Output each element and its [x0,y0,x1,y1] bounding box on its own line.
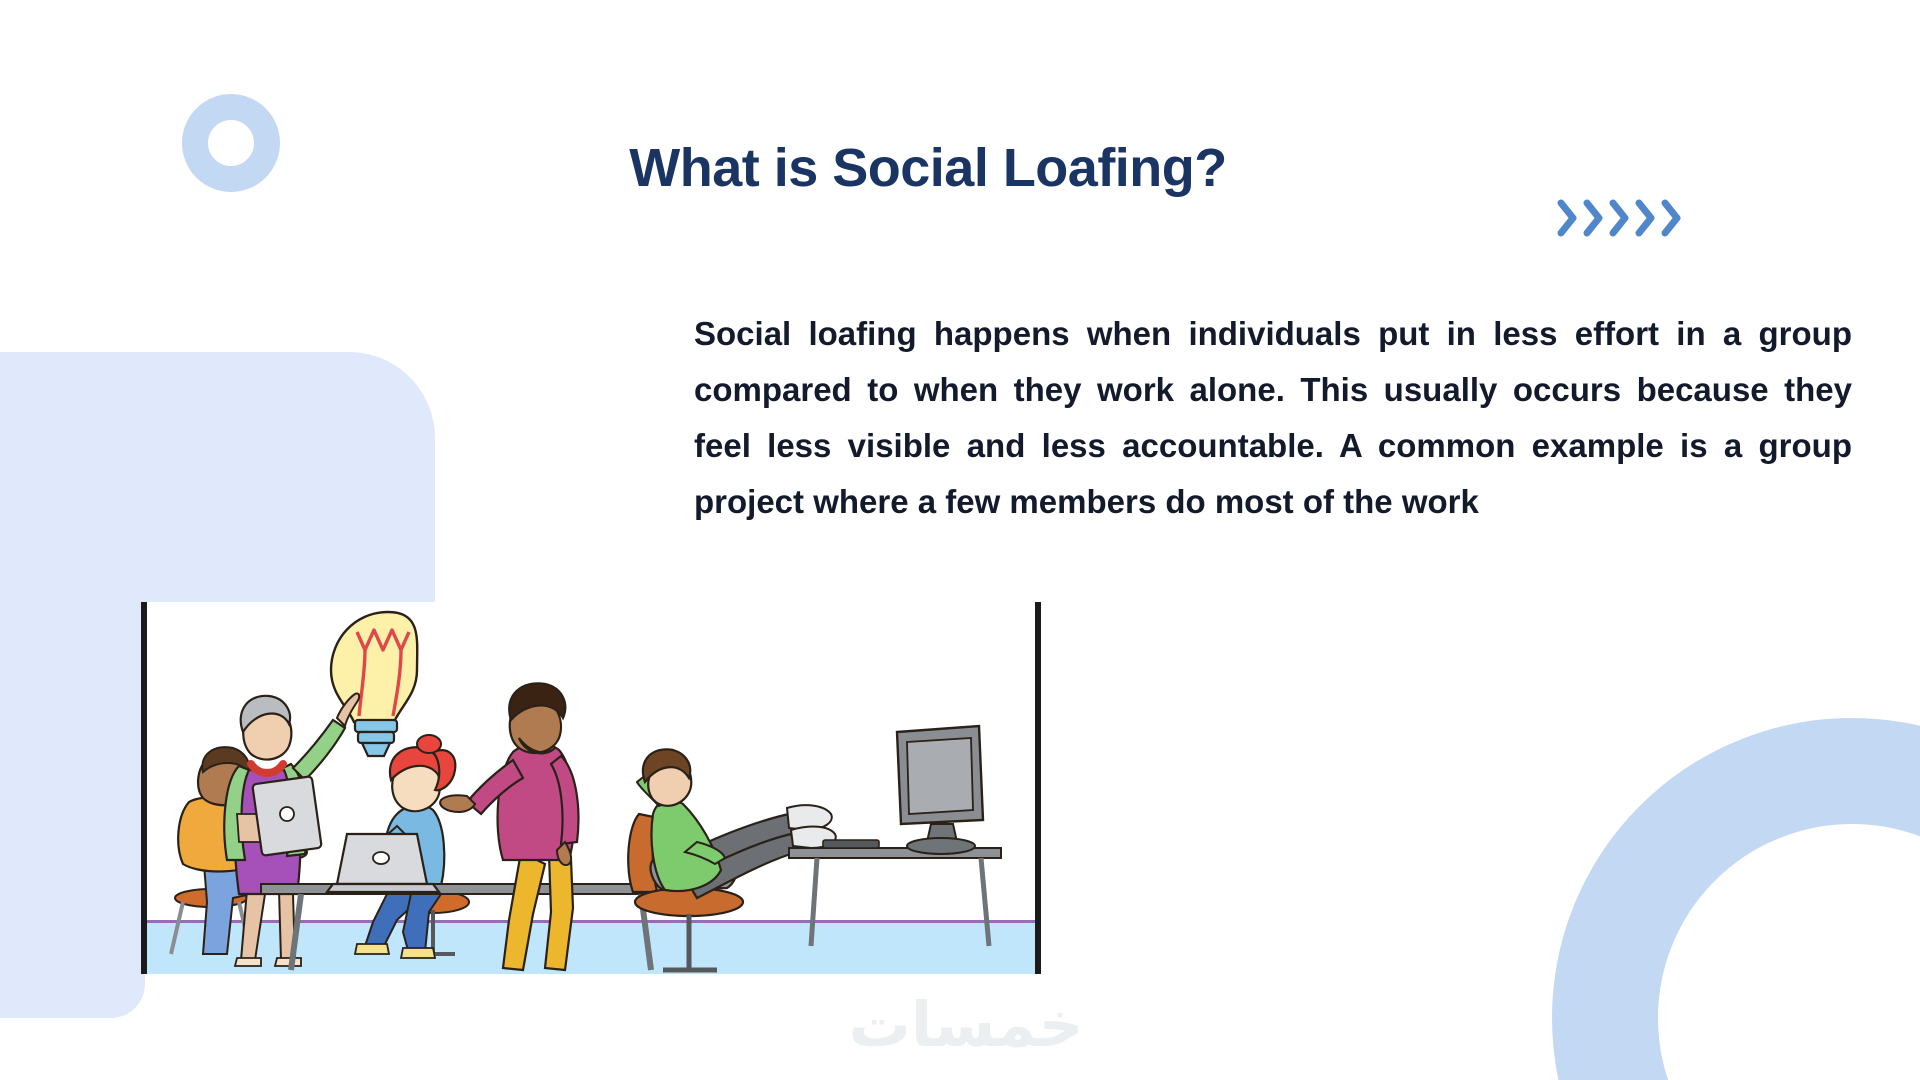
chevron-right-icon [1582,196,1606,240]
body-paragraph: Social loafing happens when individuals … [694,306,1852,530]
chevron-arrows-group [1556,196,1684,240]
illustration-card [141,602,1041,974]
slide-canvas: What is Social Loafing? Social loafing h… [0,0,1920,1080]
chevron-right-icon [1634,196,1658,240]
chevron-right-icon [1608,196,1632,240]
light-blue-panel [0,352,435,602]
chevron-right-icon [1660,196,1684,240]
idea-lightbulb-icon [331,612,417,756]
chevron-right-icon [1556,196,1580,240]
office-scene-illustration [141,602,1041,974]
light-blue-panel-lower [0,598,145,1018]
large-ring-icon [1552,718,1920,1080]
small-ring-icon [182,94,280,192]
watermark-text: خمسات [826,988,1106,1061]
page-title: What is Social Loafing? [548,140,1308,197]
